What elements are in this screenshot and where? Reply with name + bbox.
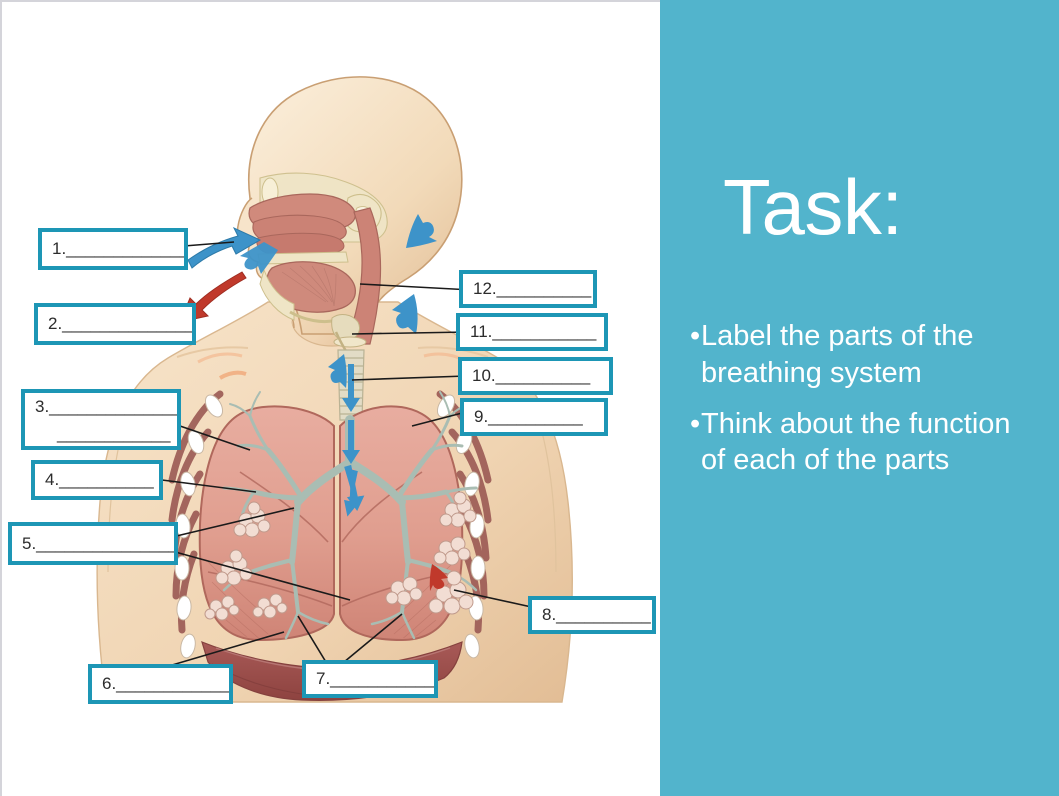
- task-panel: Task: • Label the parts of the breathing…: [660, 0, 1059, 796]
- answer-box-7[interactable]: 7._____________: [302, 660, 438, 698]
- bullet-dot-icon: •: [690, 318, 701, 355]
- answer-box-6-label: 6._____________: [102, 674, 233, 694]
- answer-box-3[interactable]: 3._______________ ____________: [21, 389, 181, 450]
- answer-box-3-label-line2: ____________: [35, 421, 170, 447]
- answer-box-9[interactable]: 9.__________: [460, 398, 608, 436]
- answer-box-4-label: 4.__________: [45, 470, 154, 490]
- bullet-dot-icon: •: [690, 406, 701, 443]
- answer-box-6[interactable]: 6._____________: [88, 664, 233, 704]
- task-title: Task:: [723, 168, 903, 246]
- answer-box-8-label: 8.__________: [542, 605, 651, 625]
- answer-box-10[interactable]: 10.__________: [458, 357, 613, 395]
- answer-box-11-label: 11.___________: [470, 322, 596, 342]
- answer-box-9-label: 9.__________: [474, 407, 583, 427]
- task-bullet-2-text: Think about the function of each of the …: [701, 406, 1040, 480]
- answer-box-5-label: 5._______________: [22, 534, 178, 554]
- task-bullet-1-text: Label the parts of the breathing system: [701, 318, 1040, 392]
- answer-box-10-label: 10.__________: [472, 366, 590, 386]
- slide: 1._______________ 2._______________ 3.__…: [0, 0, 1059, 796]
- answer-box-7-label: 7._____________: [316, 669, 438, 689]
- answer-box-5[interactable]: 5._______________: [8, 522, 178, 565]
- answer-box-12-label: 12.__________: [473, 279, 591, 299]
- answer-box-2-label: 2._______________: [48, 314, 196, 334]
- task-bullet-item-1: • Label the parts of the breathing syste…: [690, 318, 1040, 392]
- answer-box-2[interactable]: 2._______________: [34, 303, 196, 345]
- answer-box-3-label-line1: 3._______________: [35, 394, 181, 420]
- answer-box-12[interactable]: 12.__________: [459, 270, 597, 308]
- answer-box-11[interactable]: 11.___________: [456, 313, 608, 351]
- task-bullet-item-2: • Think about the function of each of th…: [690, 406, 1040, 480]
- answer-box-1-label: 1._______________: [52, 239, 188, 259]
- answer-box-8[interactable]: 8.__________: [528, 596, 656, 634]
- answer-box-1[interactable]: 1._______________: [38, 228, 188, 270]
- answer-box-4[interactable]: 4.__________: [31, 460, 163, 500]
- task-bullet-list: • Label the parts of the breathing syste…: [690, 318, 1040, 493]
